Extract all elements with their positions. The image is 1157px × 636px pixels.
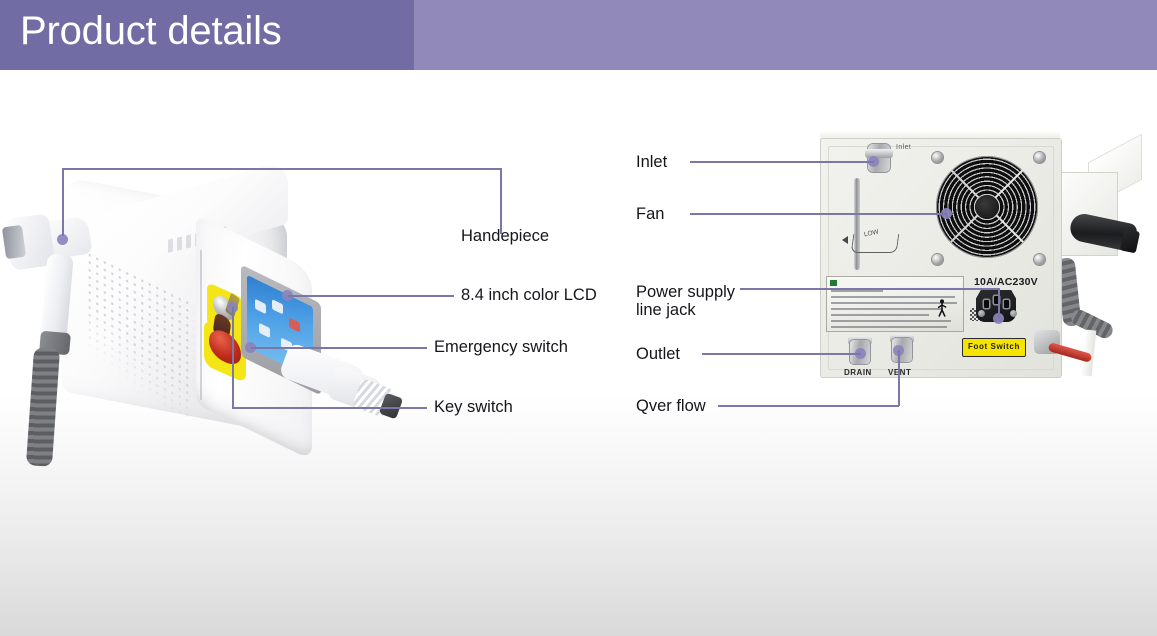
slide-header: Product details — [0, 0, 1157, 70]
power-supply-callout-line-h — [740, 288, 999, 290]
fan-hub — [975, 195, 999, 219]
label-handpiece: Handepiece — [461, 226, 549, 246]
key-switch-callout-line-h — [232, 407, 427, 409]
voltage-rating-text: 10A/AC230V — [974, 276, 1038, 288]
low-arrow-icon — [842, 236, 848, 244]
label-emergency-switch: Emergency switch — [434, 337, 568, 357]
over-flow-callout-line-h — [718, 405, 899, 407]
page-title: Product details — [20, 9, 282, 54]
spec-plate-header — [829, 279, 961, 287]
fan-screw-tl — [932, 152, 943, 163]
ac-socket-screw-left — [978, 310, 985, 317]
label-fan: Fan — [636, 204, 664, 224]
label-key-switch: Key switch — [434, 397, 513, 417]
label-inlet: Inlet — [636, 152, 667, 172]
handpiece-callout-line-h — [62, 168, 502, 170]
outlet-callout-line — [702, 353, 861, 355]
machine-seam — [200, 250, 202, 401]
handpiece-nozzle-tip — [1120, 229, 1140, 254]
fan-screw-tr — [1034, 152, 1045, 163]
fan-screw-br — [1034, 254, 1045, 265]
fan-callout-line — [690, 213, 946, 215]
vent-panel-text: VENT — [888, 368, 911, 377]
manufacturer-logo-icon — [830, 280, 837, 286]
handpiece-callout-line-v1 — [62, 168, 64, 236]
label-power-supply-2: line jack — [636, 300, 696, 320]
emergency-callout-line — [251, 347, 427, 349]
handpiece-hose — [26, 347, 60, 467]
specification-plate — [826, 276, 964, 332]
ac-socket-screw-right — [1010, 310, 1017, 317]
ac-pin-left — [984, 300, 989, 308]
handpiece-tip — [2, 225, 26, 259]
inlet-panel-text: Inlet — [896, 144, 911, 151]
right-machine-photo: Inlet LOW 10A/AC230V — [812, 130, 1157, 430]
ac-pin-right — [1004, 300, 1009, 308]
fan-screw-bl — [932, 254, 943, 265]
power-supply-callout-line-v — [998, 288, 1000, 318]
handpiece-callout-line-v2 — [500, 168, 502, 234]
person-warning-icon — [937, 299, 947, 317]
over-flow-callout-line-v — [898, 350, 900, 406]
inlet-callout-line — [690, 161, 874, 163]
key-switch-callout-line-v — [232, 307, 234, 408]
low-level-mark — [851, 234, 900, 253]
foot-switch-text: Foot Switch — [968, 342, 1020, 351]
lcd-callout-line — [288, 295, 454, 297]
level-tube — [854, 178, 860, 270]
label-outlet: Outlet — [636, 344, 680, 364]
product-details-slide: Product details — [0, 0, 1157, 636]
label-over-flow: Qver flow — [636, 396, 706, 416]
drain-panel-text: DRAIN — [844, 368, 872, 377]
label-lcd: 8.4 inch color LCD — [461, 285, 597, 305]
label-power-supply-1: Power supply — [636, 282, 735, 302]
